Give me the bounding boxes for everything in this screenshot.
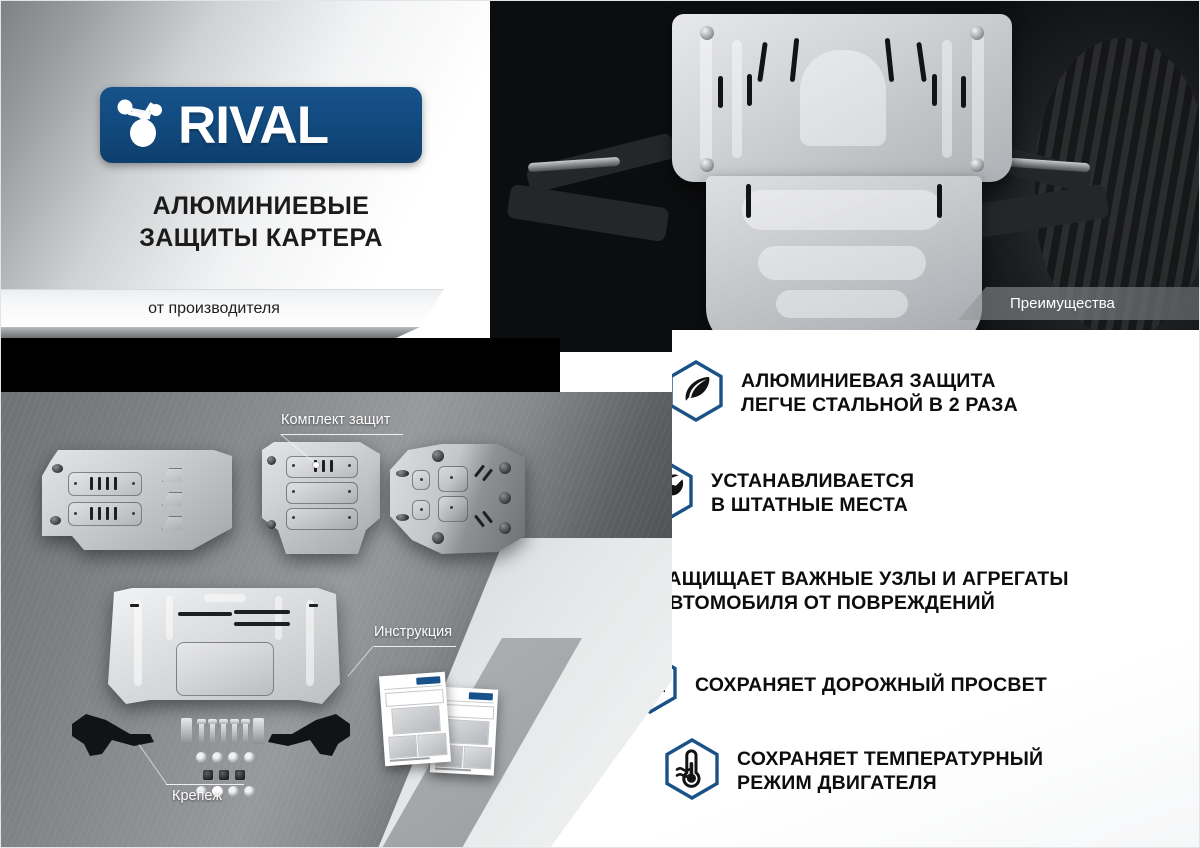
page-title-line-1: АЛЮМИНИЕВЫЕ [0, 190, 522, 222]
advantage-line-2: АВТОМОБИЛЯ ОТ ПОВРЕЖДЕНИЙ [655, 592, 1069, 615]
bolt [221, 722, 226, 744]
skid-plate-front [672, 14, 1012, 182]
callout-fasteners-label: Крепеж [172, 788, 222, 804]
washer [196, 752, 207, 763]
advantage-line-2: РЕЖИМ ДВИГАТЕЛЯ [737, 772, 1043, 795]
advantage-line-1: СОХРАНЯЕТ ТЕМПЕРАТУРНЫЙ [737, 748, 1043, 770]
thermometer-icon [664, 738, 720, 805]
callout-kit-rule [281, 434, 403, 435]
advantage-text-1: АЛЮМИНИЕВАЯ ЗАЩИТА ЛЕГЧЕ СТАЛЬНОЙ В 2 РА… [741, 370, 1018, 417]
bolt [232, 722, 237, 744]
advantage-line-1: АЛЮМИНИЕВАЯ ЗАЩИТА [741, 370, 996, 392]
callout-instruction-rule [374, 646, 456, 647]
product-photo: Комплект защит Инструкция Крепеж [0, 392, 700, 848]
promo-banner: RIVAL АЛЮМИНИЕВЫЕ ЗАЩИТЫ КАРТЕРА от прои… [0, 0, 1200, 848]
skid-plate-1 [42, 450, 232, 550]
nut [235, 770, 245, 780]
skid-plate-3 [390, 444, 525, 554]
advantage-item-5: СОХРАНЯЕТ ТЕМПЕРАТУРНЫЙ РЕЖИМ ДВИГАТЕЛЯ [664, 738, 1043, 805]
page-title-line-2: ЗАЩИТЫ КАРТЕРА [0, 222, 522, 254]
washer [212, 752, 223, 763]
tagline-shadow [0, 327, 452, 338]
washer [244, 752, 255, 763]
rival-logo: RIVAL [100, 87, 422, 163]
nut [203, 770, 213, 780]
advantage-text-4: СОХРАНЯЕТ ДОРОЖНЫЙ ПРОСВЕТ [695, 674, 1047, 697]
molecule-icon [110, 95, 180, 155]
tagline-text: от производителя [148, 300, 280, 318]
instruction-sheet-front [379, 672, 451, 766]
washer [228, 786, 239, 797]
bolt-head [230, 719, 239, 724]
skid-plate-rear [706, 176, 982, 348]
advantage-line-1: ЗАЩИЩАЕТ ВАЖНЫЕ УЗЛЫ И АГРЕГАТЫ [655, 568, 1069, 590]
advantage-line-2: ЛЕГЧЕ СТАЛЬНОЙ В 2 РАЗА [741, 394, 1018, 417]
advantage-line-2: В ШТАТНЫЕ МЕСТА [711, 494, 914, 517]
callout-kit-dot [313, 462, 319, 468]
washer [228, 752, 239, 763]
bolt-head [197, 719, 206, 724]
skid-plate-main [108, 588, 340, 704]
advantage-text-2: УСТАНАВЛИВАЕТСЯ В ШТАТНЫЕ МЕСТА [711, 470, 914, 517]
advantage-item-4: СОХРАНЯЕТ ДОРОЖНЫЙ ПРОСВЕТ [622, 652, 1047, 719]
washer [244, 786, 255, 797]
advantage-item-1: АЛЮМИНИЕВАЯ ЗАЩИТА ЛЕГЧЕ СТАЛЬНОЙ В 2 РА… [668, 360, 1018, 427]
advantage-text-3: ЗАЩИЩАЕТ ВАЖНЫЕ УЗЛЫ И АГРЕГАТЫ АВТОМОБИ… [655, 568, 1069, 615]
photo-section-label-text: Преимущества [1010, 295, 1115, 312]
advantage-line-1: СОХРАНЯЕТ ДОРОЖНЫЙ ПРОСВЕТ [695, 674, 1047, 696]
callout-instruction-label: Инструкция [374, 624, 452, 640]
underbody-photo: Преимущества [490, 0, 1200, 352]
page-title: АЛЮМИНИЕВЫЕ ЗАЩИТЫ КАРТЕРА [0, 190, 522, 254]
bolt [199, 722, 204, 744]
callout-kit-label: Комплект защит [281, 412, 390, 428]
bolt-head [219, 719, 228, 724]
advantage-item-2: УСТАНАВЛИВАЕТСЯ В ШТАТНЫЕ МЕСТА [638, 460, 914, 527]
bolt [210, 722, 215, 744]
advantage-text-5: СОХРАНЯЕТ ТЕМПЕРАТУРНЫЙ РЕЖИМ ДВИГАТЕЛЯ [737, 748, 1043, 795]
divider-black-strip [0, 338, 560, 392]
advantage-line-1: УСТАНАВЛИВАЕТСЯ [711, 470, 914, 492]
bolt-head [241, 719, 250, 724]
callout-fasteners-rule [166, 784, 244, 785]
bolt [243, 722, 248, 744]
mounting-strip [253, 718, 264, 744]
bolt-head [208, 719, 217, 724]
mounting-strip [181, 718, 192, 744]
rival-logo-text: RIVAL [178, 99, 328, 152]
tagline-bar: от производителя [0, 289, 444, 328]
nut [219, 770, 229, 780]
feather-icon [668, 360, 724, 427]
photo-section-label: Преимущества [958, 287, 1200, 320]
skid-plate-2 [262, 442, 380, 554]
